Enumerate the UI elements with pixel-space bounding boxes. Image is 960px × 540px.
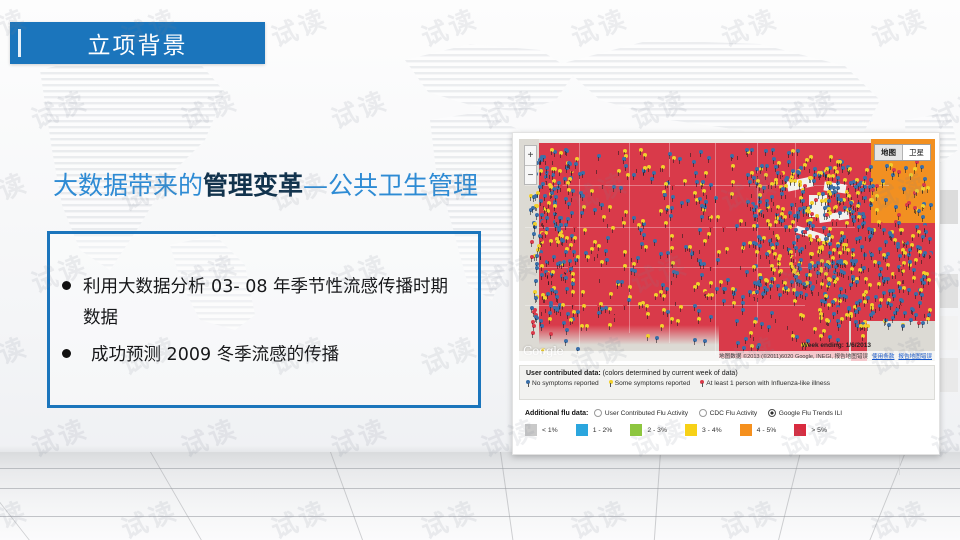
map-pin — [768, 223, 772, 227]
map-pin — [887, 298, 891, 302]
map-pin — [765, 164, 769, 168]
map-pin — [540, 309, 544, 313]
map-pin — [912, 276, 916, 280]
map-pin — [702, 189, 706, 193]
map-pin — [847, 185, 851, 189]
map-pin — [820, 282, 824, 286]
scale-item: 3 - 4% — [685, 424, 722, 436]
map-type-button-map[interactable]: 地图 — [875, 145, 902, 160]
map-pin — [874, 295, 878, 299]
legend-item: Some symptoms reported — [609, 380, 691, 387]
map-pin — [735, 319, 739, 323]
map-pin — [749, 331, 753, 335]
map-pin — [851, 248, 855, 252]
map-pin — [684, 245, 688, 249]
map-pin — [862, 215, 866, 219]
map-pin — [781, 187, 785, 191]
map-pin — [808, 273, 812, 277]
radio-google-flu-trends-ili[interactable]: Google Flu Trends ILI — [768, 409, 842, 417]
map-pin — [545, 166, 549, 170]
map-pin — [824, 263, 828, 267]
scale-label: 1 - 2% — [593, 427, 613, 434]
map-pin — [639, 148, 643, 152]
map-pin — [671, 183, 675, 187]
map-pin — [628, 285, 632, 289]
radio-cdc-flu-activity[interactable]: CDC Flu Activity — [699, 409, 757, 417]
watermark-text: 试读 — [0, 326, 33, 382]
map-pin — [763, 286, 767, 290]
map-pin — [745, 270, 749, 274]
map-pin — [709, 183, 713, 187]
map-pin — [564, 339, 568, 343]
map-pin — [765, 199, 769, 203]
watermark-text: 试读 — [0, 162, 33, 218]
map-type-button-satellite[interactable]: 卫星 — [903, 145, 930, 160]
map-pin — [915, 225, 919, 229]
map-pin — [912, 268, 916, 272]
map-pin — [921, 215, 925, 219]
map-pin — [632, 216, 636, 220]
map-pin — [793, 179, 797, 183]
map-pin — [910, 307, 914, 311]
map-pin — [532, 324, 536, 328]
map-pin — [695, 180, 699, 184]
map-pin — [565, 236, 569, 240]
map-pin — [665, 287, 669, 291]
map-pin — [772, 199, 776, 203]
map-pin — [827, 199, 831, 203]
map-pin — [554, 195, 558, 199]
map-pin — [559, 151, 563, 155]
map-pin — [582, 205, 586, 209]
map-pin — [827, 282, 831, 286]
map-pin — [775, 234, 779, 238]
bullet-text: 成功预测 2009 冬季流感的传播 — [83, 340, 339, 371]
map-pin — [807, 210, 811, 214]
map-pin — [869, 165, 873, 169]
pin-icon — [609, 380, 613, 387]
section-title-text: 立项背景 — [10, 22, 265, 64]
watermark-text: 试读 — [265, 0, 333, 55]
map-pin — [707, 232, 711, 236]
map-pin — [860, 188, 864, 192]
map-pin — [886, 263, 890, 267]
map-pin — [843, 178, 847, 182]
map-pin — [616, 280, 620, 284]
week-ending-label: Week ending: 1/6/2013 — [802, 342, 871, 349]
map-pin — [920, 165, 924, 169]
map-canvas[interactable]: + − 地图 卫星 Google Week ending: 1/6/2013 地… — [519, 139, 935, 361]
map-pin — [765, 279, 769, 283]
map-pin — [750, 191, 754, 195]
map-pin — [856, 191, 860, 195]
map-pin — [868, 283, 872, 287]
map-pin — [816, 271, 820, 275]
map-pin — [642, 233, 646, 237]
map-pin — [672, 156, 676, 160]
map-pin — [548, 317, 552, 321]
map-pin — [897, 170, 901, 174]
section-title-bar: 立项背景 — [10, 22, 265, 64]
zoom-out-icon[interactable]: − — [525, 166, 536, 185]
map-pin — [678, 157, 682, 161]
map-pin — [659, 209, 663, 213]
map-pin — [655, 336, 659, 340]
scale-label: < 1% — [542, 427, 558, 434]
map-pin — [549, 332, 553, 336]
map-pin — [870, 253, 874, 257]
swatch — [685, 424, 697, 436]
map-pin — [922, 183, 926, 187]
map-pin — [815, 214, 819, 218]
map-pin — [750, 148, 754, 152]
map-pin — [699, 150, 703, 154]
map-pin — [847, 307, 851, 311]
map-pin — [707, 156, 711, 160]
watermark-text: 试读 — [625, 80, 693, 136]
map-pin — [667, 177, 671, 181]
map-pin — [904, 166, 908, 170]
map-pin — [715, 287, 719, 291]
map-pin — [882, 228, 886, 232]
map-pin — [532, 310, 536, 314]
map-pin — [836, 176, 840, 180]
map-pin — [675, 271, 679, 275]
map-pin — [559, 309, 563, 313]
map-pin — [855, 178, 859, 182]
map-pin — [775, 210, 779, 214]
map-pin — [897, 213, 901, 217]
scale-label: 2 - 3% — [647, 427, 667, 434]
map-type-switcher[interactable]: 地图 卫星 — [874, 144, 931, 161]
map-pin — [808, 266, 812, 270]
map-pin — [643, 153, 647, 157]
map-pin — [545, 216, 549, 220]
map-pin — [644, 245, 648, 249]
map-pin — [794, 246, 798, 250]
map-pin — [803, 230, 807, 234]
radio-label: CDC Flu Activity — [710, 410, 758, 417]
map-zoom-control[interactable]: + − — [524, 145, 537, 185]
map-pin — [915, 189, 919, 193]
map-pin — [919, 288, 923, 292]
map-pin — [549, 304, 553, 308]
bullet-list: 利用大数据分析 03- 08 年季节性流感传播时期数据 成功预测 2009 冬季… — [62, 272, 482, 377]
map-pin — [827, 190, 831, 194]
map-pin — [867, 265, 871, 269]
map-pin — [562, 321, 566, 325]
map-pin — [808, 166, 812, 170]
map-pin — [533, 222, 537, 226]
map-pin — [820, 199, 824, 203]
map-pin — [534, 315, 538, 319]
map-pin — [894, 205, 898, 209]
map-pin — [796, 149, 800, 153]
map-pin — [776, 284, 780, 288]
map-pin — [780, 192, 784, 196]
map-pin — [889, 233, 893, 237]
map-pin — [863, 176, 867, 180]
map-pins — [519, 139, 935, 361]
radio-icon[interactable] — [699, 409, 707, 417]
map-pin — [797, 171, 801, 175]
map-pin — [664, 221, 668, 225]
map-pin — [693, 285, 697, 289]
map-pin — [863, 324, 867, 328]
map-pin — [608, 323, 612, 327]
map-pin — [531, 331, 535, 335]
map-pin — [647, 165, 651, 169]
map-pin — [762, 186, 766, 190]
map-pin — [843, 260, 847, 264]
legend-item: At least 1 person with Influenza-like il… — [700, 380, 830, 387]
map-pin — [670, 317, 674, 321]
map-pin — [716, 258, 720, 262]
scale-item: 2 - 3% — [630, 424, 667, 436]
attribution-text: 地图数据 ©2013 (©2011)6020 Google, INEGI, 报告… — [719, 352, 868, 360]
map-pin — [571, 282, 575, 286]
map-pin — [869, 178, 873, 182]
map-pin — [597, 154, 601, 158]
map-pin — [571, 278, 575, 282]
map-pin — [558, 169, 562, 173]
map-pin — [556, 240, 560, 244]
map-pin — [731, 180, 735, 184]
map-pin — [580, 324, 584, 328]
map-pin — [903, 311, 907, 315]
map-pin — [879, 267, 883, 271]
map-pin — [709, 225, 713, 229]
map-pin — [909, 173, 913, 177]
map-pin — [838, 294, 842, 298]
map-pin — [569, 318, 573, 322]
map-pin — [633, 269, 637, 273]
map-pin — [709, 281, 713, 285]
map-pin — [803, 184, 807, 188]
radio-icon-selected[interactable] — [768, 409, 776, 417]
map-pin — [534, 279, 538, 283]
map-pin — [760, 322, 764, 326]
map-pin — [623, 264, 627, 268]
map-pin — [550, 148, 554, 152]
map-pin — [875, 208, 879, 212]
map-pin — [752, 224, 756, 228]
radio-label: User Contributed Flu Activity — [605, 410, 688, 417]
map-pin — [586, 255, 590, 259]
map-pin — [777, 257, 781, 261]
map-pin — [596, 251, 600, 255]
scale-label: > 5% — [811, 427, 827, 434]
map-pin — [796, 211, 800, 215]
map-pin — [764, 149, 768, 153]
map-pin — [539, 253, 543, 257]
map-pin — [674, 299, 678, 303]
map-pin — [799, 291, 803, 295]
map-pin — [914, 258, 918, 262]
map-pin — [902, 261, 906, 265]
map-pin — [858, 268, 862, 272]
scale-item: > 5% — [794, 424, 827, 436]
report-map-error-link[interactable]: 报告地图错误 — [898, 352, 932, 360]
map-pin — [920, 293, 924, 297]
map-pin — [755, 167, 759, 171]
map-pin — [923, 177, 927, 181]
map-pin — [796, 235, 800, 239]
map-pin — [866, 296, 870, 300]
radio-icon[interactable] — [594, 409, 602, 417]
map-pin — [900, 228, 904, 232]
map-pin — [922, 275, 926, 279]
map-pin — [772, 157, 776, 161]
map-pin — [913, 167, 917, 171]
map-pin — [576, 310, 580, 314]
map-pin — [791, 220, 795, 224]
map-pin — [921, 187, 925, 191]
map-pin — [803, 163, 807, 167]
map-pin — [624, 164, 628, 168]
map-pin — [770, 264, 774, 268]
zoom-in-icon[interactable]: + — [525, 146, 536, 165]
map-pin — [896, 245, 900, 249]
map-pin — [844, 243, 848, 247]
map-pin — [801, 199, 805, 203]
map-pin — [662, 294, 666, 298]
map-pin — [571, 189, 575, 193]
map-pin — [877, 220, 881, 224]
map-pin — [643, 166, 647, 170]
map-pin — [730, 154, 734, 158]
map-pin — [582, 304, 586, 308]
map-pin — [757, 235, 761, 239]
map-pin — [573, 225, 577, 229]
map-pin — [755, 250, 759, 254]
map-pin — [659, 252, 663, 256]
map-pin — [670, 278, 674, 282]
map-pin — [608, 205, 612, 209]
map-pin — [663, 193, 667, 197]
map-pin — [692, 248, 696, 252]
map-pin — [541, 232, 545, 236]
map-pin — [783, 281, 787, 285]
map-pin — [746, 200, 750, 204]
map-pin — [759, 276, 763, 280]
map-pin — [889, 303, 893, 307]
map-pin — [617, 169, 621, 173]
map-pin — [632, 262, 636, 266]
map-pin — [914, 292, 918, 296]
map-pin — [929, 203, 933, 207]
map-pin — [585, 324, 589, 328]
map-pin — [902, 187, 906, 191]
map-pin — [772, 268, 776, 272]
map-pin — [632, 173, 636, 177]
map-pin — [541, 220, 545, 224]
swatch — [525, 424, 537, 436]
map-pin — [770, 311, 774, 315]
headline-part-3: —公共卫生管理 — [303, 171, 478, 200]
user-data-subtitle: (colors determined by current week of da… — [603, 370, 738, 377]
map-pin — [778, 293, 782, 297]
map-pin — [646, 334, 650, 338]
map-pin — [754, 214, 758, 218]
map-pin — [716, 215, 720, 219]
map-pin — [750, 171, 754, 175]
map-pin — [599, 302, 603, 306]
map-pin — [636, 256, 640, 260]
map-pin — [646, 312, 650, 316]
map-pin — [547, 258, 551, 262]
map-pin — [871, 188, 875, 192]
map-pin — [704, 200, 708, 204]
map-pin — [571, 272, 575, 276]
map-pin — [902, 286, 906, 290]
map-pin — [901, 324, 905, 328]
radio-user-contributed-flu-activity[interactable]: User Contributed Flu Activity — [594, 409, 688, 417]
map-pin — [821, 192, 825, 196]
map-pin — [709, 315, 713, 319]
map-pin — [595, 167, 599, 171]
map-pin — [660, 324, 664, 328]
map-pin — [828, 242, 832, 246]
map-pin — [772, 228, 776, 232]
map-pin — [565, 328, 569, 332]
map-pin — [877, 282, 881, 286]
map-pin — [671, 195, 675, 199]
map-pin — [726, 278, 730, 282]
watermark-text: 试读 — [175, 80, 243, 136]
map-pin — [561, 239, 565, 243]
map-pin — [787, 151, 791, 155]
headline-part-2: 管理变革 — [203, 171, 303, 200]
map-pin — [762, 211, 766, 215]
map-pin — [540, 264, 544, 268]
map-pin — [786, 323, 790, 327]
map-pin — [744, 337, 748, 341]
map-pin — [774, 220, 778, 224]
map-pin — [764, 173, 768, 177]
map-pin — [620, 280, 624, 284]
map-pin — [540, 273, 544, 277]
page-title: 大数据带来的管理变革—公共卫生管理 — [53, 170, 478, 202]
map-pin — [790, 203, 794, 207]
map-pin — [671, 261, 675, 265]
map-pin — [701, 180, 705, 184]
map-attribution: 地图数据 ©2013 (©2011)6020 Google, INEGI, 报告… — [519, 351, 935, 361]
bullet-dot-icon — [62, 281, 71, 290]
map-pin — [808, 221, 812, 225]
map-pin — [814, 198, 818, 202]
map-pin — [774, 316, 778, 320]
terms-link[interactable]: 使用条款 — [872, 352, 894, 360]
map-pin — [623, 303, 627, 307]
map-pin — [732, 301, 736, 305]
map-pin — [903, 239, 907, 243]
map-pin — [870, 303, 874, 307]
map-pin — [865, 168, 869, 172]
map-pin — [598, 199, 602, 203]
map-pin — [838, 251, 842, 255]
map-pin — [654, 293, 658, 297]
map-pin — [562, 260, 566, 264]
map-pin — [569, 267, 573, 271]
map-pin — [789, 250, 793, 254]
map-pin — [741, 301, 745, 305]
map-pin — [539, 199, 543, 203]
map-pin — [551, 270, 555, 274]
map-pin — [774, 178, 778, 182]
map-pin — [882, 291, 886, 295]
map-pin — [849, 283, 853, 287]
